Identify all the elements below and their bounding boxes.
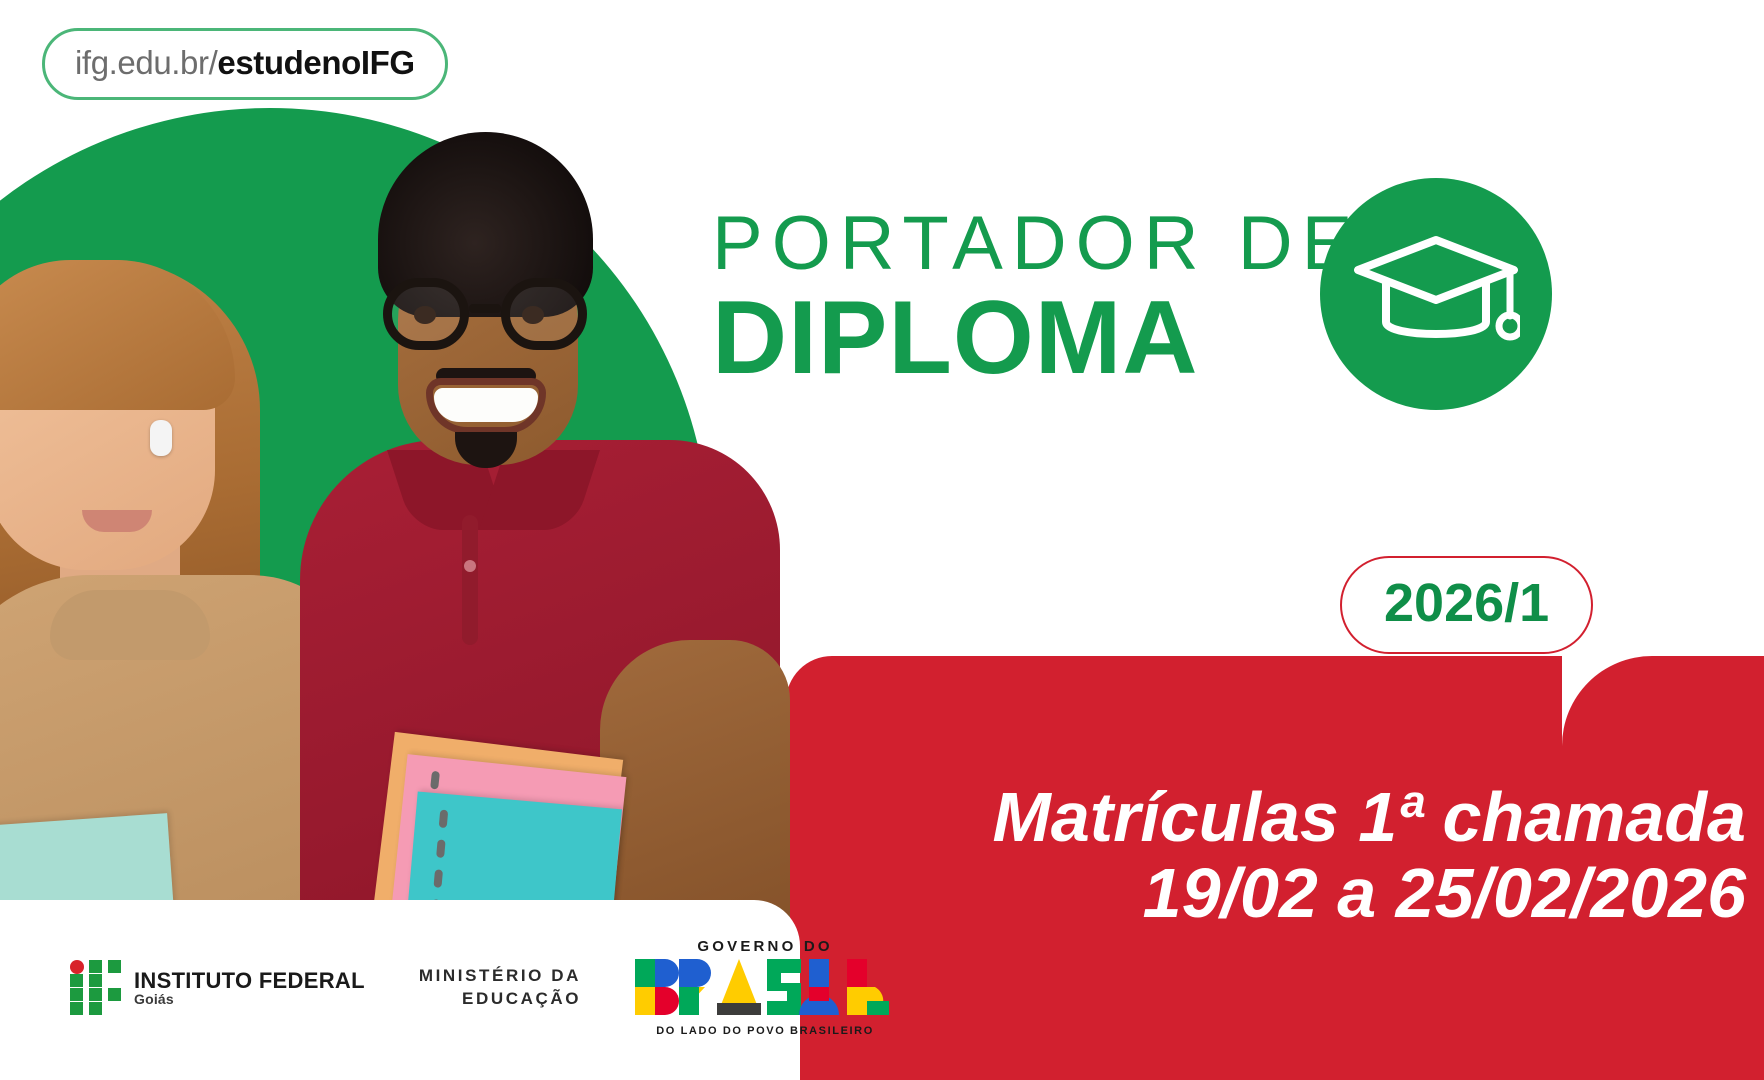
- woman-hair-front: [0, 260, 235, 410]
- graduation-cap-icon: [1352, 230, 1520, 360]
- spiral-ring: [439, 810, 449, 829]
- headline-line-2: DIPLOMA: [712, 286, 1361, 390]
- headline-line-1: PORTADOR DE: [712, 206, 1361, 282]
- man-glasses: [383, 278, 595, 350]
- red-panel-corner-notch: [1562, 656, 1764, 766]
- url-slug-text: estudenoIFG: [217, 44, 414, 81]
- government-of-brazil-logo: GOVERNO DO: [635, 938, 895, 1037]
- call-to-action-block: Matrículas 1ª chamada 19/02 a 25/02/2026: [993, 780, 1746, 931]
- website-url-pill[interactable]: ifg.edu.br/estudenoIFG: [42, 28, 448, 100]
- glasses-lens-right: [501, 278, 587, 350]
- cta-line-1: Matrículas 1ª chamada: [993, 780, 1746, 856]
- url-base-text: ifg.edu.br/: [75, 44, 217, 81]
- headline: PORTADOR DE DIPLOMA: [712, 206, 1361, 390]
- man-shirt-button: [464, 560, 476, 572]
- ifg-red-dot: [70, 960, 84, 974]
- promotional-banner: ifg.edu.br/estudenoIFG PORTADOR DE DIPLO…: [0, 0, 1764, 1080]
- woman-mouth: [82, 510, 152, 532]
- spiral-ring: [433, 869, 443, 888]
- government-bottom-text: DO LADO DO POVO BRASILEIRO: [635, 1025, 895, 1037]
- ministry-of-education-logo: MINISTÉRIO DA EDUCAÇÃO: [419, 965, 581, 1011]
- ifg-mark-icon: [70, 960, 122, 1016]
- glasses-bridge: [469, 304, 501, 313]
- students-photo: [0, 120, 800, 920]
- graduation-cap-badge: [1320, 178, 1552, 410]
- government-top-text: GOVERNO DO: [635, 938, 895, 955]
- footer-logos: INSTITUTO FEDERAL Goiás MINISTÉRIO DA ED…: [70, 938, 895, 1037]
- term-badge-label: 2026/1: [1384, 573, 1549, 633]
- man-arm: [600, 640, 790, 930]
- glasses-lens-left: [383, 278, 469, 350]
- spiral-ring: [436, 839, 446, 858]
- spiral-ring: [430, 771, 440, 790]
- ministry-line-2: EDUCAÇÃO: [419, 988, 581, 1011]
- woman-collar: [50, 590, 210, 660]
- ifg-name: INSTITUTO FEDERAL: [134, 969, 365, 992]
- woman-earbud-right: [150, 420, 172, 456]
- ifg-wordmark: INSTITUTO FEDERAL Goiás: [134, 969, 365, 1007]
- man-teeth: [434, 388, 538, 422]
- cta-line-2: 19/02 a 25/02/2026: [993, 856, 1746, 932]
- man-placket: [462, 515, 478, 645]
- ifg-logo: INSTITUTO FEDERAL Goiás: [70, 960, 365, 1016]
- ifg-campus: Goiás: [134, 992, 365, 1007]
- ministry-line-1: MINISTÉRIO DA: [419, 965, 581, 988]
- term-badge: 2026/1: [1340, 556, 1593, 654]
- brasil-wordmark-icon: [635, 959, 895, 1015]
